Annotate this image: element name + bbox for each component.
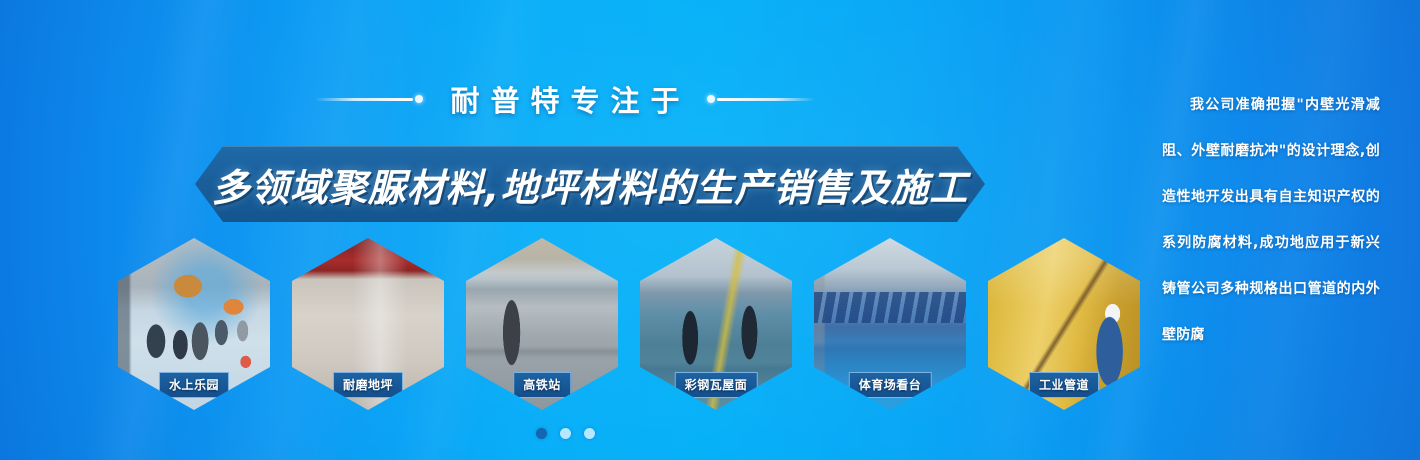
hexagon-item-color-steel-tile-roof[interactable]: 彩钢瓦屋面: [640, 238, 792, 410]
hexagon-caption: 耐磨地坪: [333, 372, 403, 398]
hexagon-item-water-park[interactable]: 水上乐园: [118, 238, 270, 410]
decoration-dot: [415, 95, 423, 103]
side-description-text: 我公司准确把握"内壁光滑减阻、外壁耐磨抗冲"的设计理念,创造性地开发出具有自主知…: [1162, 82, 1380, 358]
hexagon-item-high-speed-rail-station[interactable]: 高铁站: [466, 238, 618, 410]
hexagon-item-wear-resistant-floor[interactable]: 耐磨地坪: [292, 238, 444, 410]
hexagon-caption: 高铁站: [513, 372, 571, 398]
hexagon-caption: 水上乐园: [159, 372, 229, 398]
eyebrow-row: 耐普特专注于: [0, 78, 1130, 120]
hexagon-caption: 工业管道: [1029, 372, 1099, 398]
carousel-dot-3[interactable]: [584, 428, 595, 439]
hexagon-item-stadium-stand[interactable]: 体育场看台: [814, 238, 966, 410]
carousel-dot-1[interactable]: [536, 428, 547, 439]
dot-line-decoration-icon: [707, 94, 815, 104]
hexagon-caption: 彩钢瓦屋面: [675, 372, 758, 398]
promo-banner: 耐普特专注于 多领域聚脲材料,地坪材料的生产销售及施工 水上乐园 耐磨地坪 高铁…: [0, 0, 1420, 460]
hexagon-gallery: 水上乐园 耐磨地坪 高铁站 彩钢瓦屋面 体育场看台 工业管道: [118, 238, 1138, 410]
page-title: 多领域聚脲材料,地坪材料的生产销售及施工: [195, 146, 985, 222]
decoration-bar: [315, 98, 413, 101]
carousel-dots[interactable]: [0, 428, 1130, 439]
hexagon-item-industrial-pipeline[interactable]: 工业管道: [988, 238, 1140, 410]
hexagon-caption: 体育场看台: [849, 372, 932, 398]
line-dot-decoration-icon: [315, 94, 423, 104]
decoration-dot: [707, 95, 715, 103]
headline-plaque: 多领域聚脲材料,地坪材料的生产销售及施工: [195, 146, 985, 222]
decoration-bar: [717, 98, 815, 101]
carousel-dot-2[interactable]: [560, 428, 571, 439]
eyebrow-text: 耐普特专注于: [439, 78, 690, 120]
